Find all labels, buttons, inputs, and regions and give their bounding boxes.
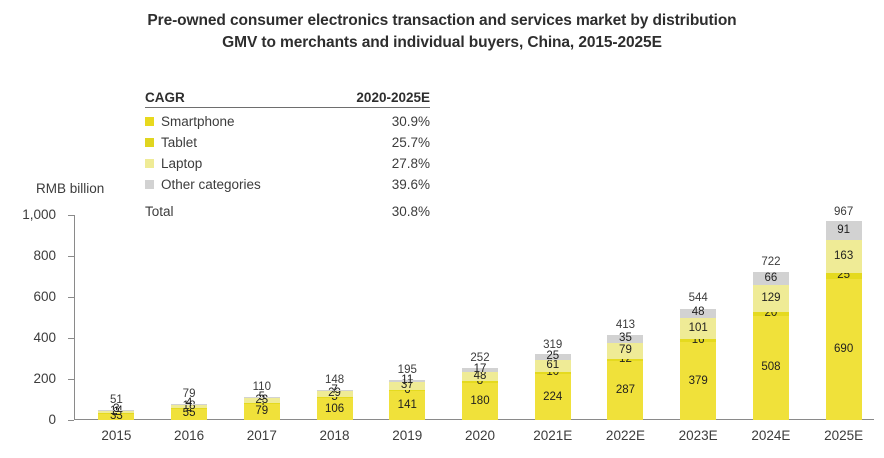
- x-axis-label: 2021E: [533, 428, 572, 443]
- x-axis-label: 2022E: [606, 428, 645, 443]
- bar-total-label: 252: [470, 352, 489, 364]
- x-axis-label: 2015: [101, 428, 131, 443]
- bar-segment-tablet[interactable]: 12: [607, 359, 643, 361]
- cagr-legend-table: CAGR 2020-2025E Smartphone 30.9% Tablet …: [145, 90, 430, 219]
- x-axis-label: 2016: [174, 428, 204, 443]
- bar-segment-smartphone[interactable]: 508: [753, 316, 789, 420]
- bar-segment-smartphone[interactable]: 180: [462, 383, 498, 420]
- bar-segment-smartphone[interactable]: 287: [607, 361, 643, 420]
- bar-total-label: 148: [325, 374, 344, 386]
- bar-group[interactable]: 5082012966722: [753, 215, 789, 420]
- bar-segment-value: 106: [325, 404, 344, 415]
- bar-segment-value: 379: [689, 376, 708, 387]
- bar-group[interactable]: 18084817252: [462, 215, 498, 420]
- chart-title: Pre-owned consumer electronics transacti…: [0, 10, 884, 54]
- bar-segment-value: 25: [546, 351, 559, 362]
- bar-series-group: 3311435155218479794235110106529714814163…: [74, 215, 874, 420]
- legend-item-smartphone: Smartphone 30.9%: [145, 111, 430, 132]
- bar-segment-tablet[interactable]: 16: [680, 339, 716, 342]
- bar-group[interactable]: 224106125319: [535, 215, 571, 420]
- chart-title-line-2: GMV to merchants and individual buyers, …: [0, 32, 884, 54]
- bar-group[interactable]: 14163711195: [389, 215, 425, 420]
- x-axis-label: 2018: [320, 428, 350, 443]
- bar-segment-value: 287: [616, 385, 635, 396]
- bar-segment-value: 7: [331, 385, 337, 396]
- y-axis-tick-label: 1,000: [0, 207, 56, 222]
- bar-segment-value: 224: [543, 392, 562, 403]
- legend-item-tablet: Tablet 25.7%: [145, 132, 430, 153]
- bar-total-label: 413: [616, 319, 635, 331]
- x-axis-labels: 2015201620172018201920202021E2022E2023E2…: [74, 428, 874, 448]
- bar-segment-value: 129: [761, 293, 780, 304]
- bar-segment-value: 163: [834, 251, 853, 262]
- bar-group[interactable]: 55218479: [171, 215, 207, 420]
- bar-stack: 3791610148: [680, 309, 716, 420]
- bar-segment-value: 690: [834, 344, 853, 355]
- bar-segment-tablet[interactable]: 8: [462, 381, 498, 383]
- bar-segment-other-categories[interactable]: 4: [171, 404, 207, 405]
- bar-segment-other-categories[interactable]: 17: [462, 368, 498, 371]
- x-axis-label: 2020: [465, 428, 495, 443]
- cagr-value-laptop: 27.8%: [392, 156, 430, 171]
- bar-segment-other-categories[interactable]: 35: [607, 335, 643, 342]
- bar-group[interactable]: 33114351: [98, 215, 134, 420]
- bar-segment-laptop[interactable]: 101: [680, 318, 716, 339]
- bar-stack: 1065297: [317, 390, 353, 420]
- bar-segment-smartphone[interactable]: 379: [680, 342, 716, 420]
- bar-segment-other-categories[interactable]: 3: [98, 410, 134, 411]
- cagr-header-period: 2020-2025E: [356, 90, 430, 105]
- y-axis-tick-label: 200: [0, 371, 56, 386]
- bar-segment-other-categories[interactable]: 66: [753, 272, 789, 286]
- bar-total-label: 195: [398, 364, 417, 376]
- bar-segment-smartphone[interactable]: 690: [826, 279, 862, 420]
- cagr-value-other-categories: 39.6%: [392, 177, 430, 192]
- bar-segment-other-categories[interactable]: 91: [826, 221, 862, 240]
- cagr-table-header: CAGR 2020-2025E: [145, 90, 430, 108]
- bar-segment-laptop[interactable]: 129: [753, 285, 789, 311]
- plot-area: 02004006008001,000 331143515521847979423…: [74, 215, 874, 420]
- cagr-value-smartphone: 30.9%: [392, 114, 430, 129]
- y-axis-tick-label: 800: [0, 248, 56, 263]
- bar-stack: 331143: [98, 410, 134, 420]
- bar-segment-value: 11: [401, 375, 413, 386]
- y-axis-tick-label: 400: [0, 330, 56, 345]
- bar-total-label: 110: [253, 381, 271, 393]
- bar-total-label: 79: [183, 388, 196, 400]
- legend-swatch-other-categories: [145, 180, 154, 189]
- chart-container: Pre-owned consumer electronics transacti…: [0, 0, 884, 458]
- legend-label-smartphone: Smartphone: [161, 114, 235, 129]
- bar-segment-value: 79: [619, 345, 632, 356]
- bar-stack: 794235: [244, 397, 280, 420]
- bar-stack: 5082012966: [753, 272, 789, 420]
- bar-group[interactable]: 3791610148544: [680, 215, 716, 420]
- bar-segment-other-categories[interactable]: 5: [244, 397, 280, 398]
- bar-stack: 552184: [171, 404, 207, 420]
- chart-title-line-1: Pre-owned consumer electronics transacti…: [0, 10, 884, 32]
- bar-stack: 14163711: [389, 380, 425, 420]
- bar-group[interactable]: 1065297148: [317, 215, 353, 420]
- x-axis-label: 2025E: [824, 428, 863, 443]
- bar-segment-other-categories[interactable]: 11: [389, 380, 425, 382]
- bar-segment-tablet[interactable]: 25: [826, 273, 862, 278]
- legend-swatch-smartphone: [145, 117, 154, 126]
- x-axis-label: 2024E: [751, 428, 790, 443]
- legend-swatch-laptop: [145, 159, 154, 168]
- cagr-header-label: CAGR: [145, 90, 185, 105]
- bar-segment-smartphone[interactable]: 224: [535, 374, 571, 420]
- bar-stack: 224106125: [535, 354, 571, 420]
- legend-label-laptop: Laptop: [161, 156, 202, 171]
- y-axis-tick-label: 0: [0, 412, 56, 427]
- bar-total-label: 544: [689, 292, 708, 304]
- bar-total-label: 319: [543, 339, 562, 351]
- bar-segment-laptop[interactable]: 163: [826, 240, 862, 273]
- bar-segment-other-categories[interactable]: 48: [680, 309, 716, 319]
- bar-segment-laptop[interactable]: 79: [607, 343, 643, 359]
- bar-segment-tablet[interactable]: 10: [535, 372, 571, 374]
- x-axis-label: 2017: [247, 428, 277, 443]
- bar-total-label: 967: [834, 206, 853, 218]
- y-axis-tick: [68, 420, 74, 421]
- legend-item-laptop: Laptop 27.8%: [145, 153, 430, 174]
- bar-stack: 18084817: [462, 368, 498, 420]
- bar-segment-other-categories[interactable]: 25: [535, 354, 571, 359]
- legend-swatch-tablet: [145, 138, 154, 147]
- bar-segment-value: 508: [761, 362, 780, 373]
- bar-segment-value: 17: [474, 364, 487, 375]
- bar-total-label: 722: [761, 256, 780, 268]
- bar-segment-value: 35: [619, 333, 632, 344]
- legend-label-other-categories: Other categories: [161, 177, 261, 192]
- bar-segment-value: 48: [692, 307, 705, 318]
- y-axis-tick-label: 600: [0, 289, 56, 304]
- bar-group[interactable]: 794235110: [244, 215, 280, 420]
- x-axis-label: 2023E: [679, 428, 718, 443]
- bar-stack: 6902516391: [826, 221, 862, 420]
- bar-stack: 287127935: [607, 335, 643, 420]
- bar-segment-value: 66: [765, 273, 778, 284]
- bar-segment-value: 4: [186, 398, 192, 409]
- bar-group[interactable]: 287127935413: [607, 215, 643, 420]
- bar-group[interactable]: 6902516391967: [826, 215, 862, 420]
- legend-label-tablet: Tablet: [161, 135, 197, 150]
- bar-segment-value: 101: [689, 323, 708, 334]
- bar-segment-tablet[interactable]: 20: [753, 312, 789, 316]
- bar-segment-value: 91: [837, 225, 850, 236]
- x-axis-label: 2019: [392, 428, 422, 443]
- cagr-value-tablet: 25.7%: [392, 135, 430, 150]
- y-axis-unit-label: RMB billion: [36, 181, 104, 196]
- bar-segment-other-categories[interactable]: 7: [317, 390, 353, 391]
- bar-total-label: 51: [110, 394, 123, 406]
- legend-item-other-categories: Other categories 39.6%: [145, 174, 430, 195]
- bar-segment-value: 180: [470, 396, 489, 407]
- bar-segment-value: 141: [398, 400, 417, 411]
